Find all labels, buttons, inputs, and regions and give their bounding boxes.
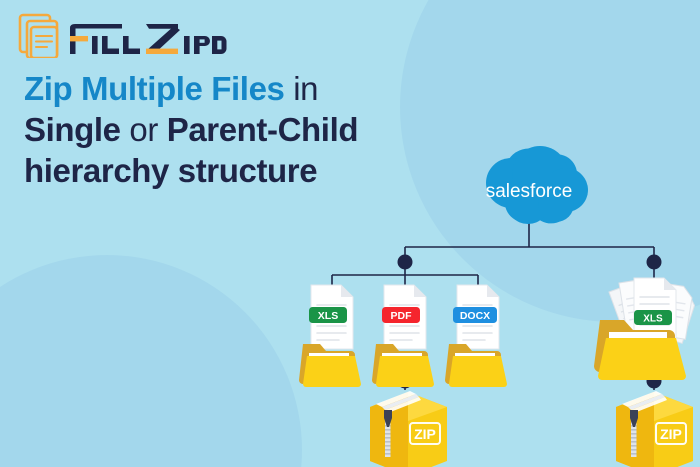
zip-right-label: ZIP <box>660 426 682 442</box>
zip-archive-left[interactable]: ZIP <box>370 391 447 467</box>
docx-badge-label: DOCX <box>460 310 490 322</box>
xls-file-icon[interactable]: XLS <box>309 285 353 349</box>
pdf-file-icon[interactable]: PDF <box>382 285 426 349</box>
docx-folder-icon[interactable] <box>445 344 507 387</box>
pdf-folder-icon[interactable] <box>372 344 434 387</box>
branch-node-left[interactable] <box>398 255 413 270</box>
pdf-badge-label: PDF <box>391 310 413 322</box>
branch-node-right[interactable] <box>647 255 662 270</box>
xls-badge-label: XLS <box>318 310 338 322</box>
zip-archive-right[interactable]: ZIP <box>616 391 693 467</box>
salesforce-cloud[interactable]: salesforce <box>486 146 588 224</box>
salesforce-label: salesforce <box>486 181 573 202</box>
docx-file-icon[interactable]: DOCX <box>453 285 499 349</box>
single-files-branch: XLS PDF DOCX <box>299 285 507 467</box>
parent-child-branch: XLS ZIP <box>594 277 697 467</box>
xls-folder-icon[interactable] <box>299 344 361 387</box>
parent-xls-badge-label: XLS <box>643 314 663 325</box>
hierarchy-diagram: salesforce XLS PDF <box>0 0 700 467</box>
banner-root: Zip Multiple Files in Single or Parent-C… <box>0 0 700 467</box>
zip-left-label: ZIP <box>414 426 436 442</box>
